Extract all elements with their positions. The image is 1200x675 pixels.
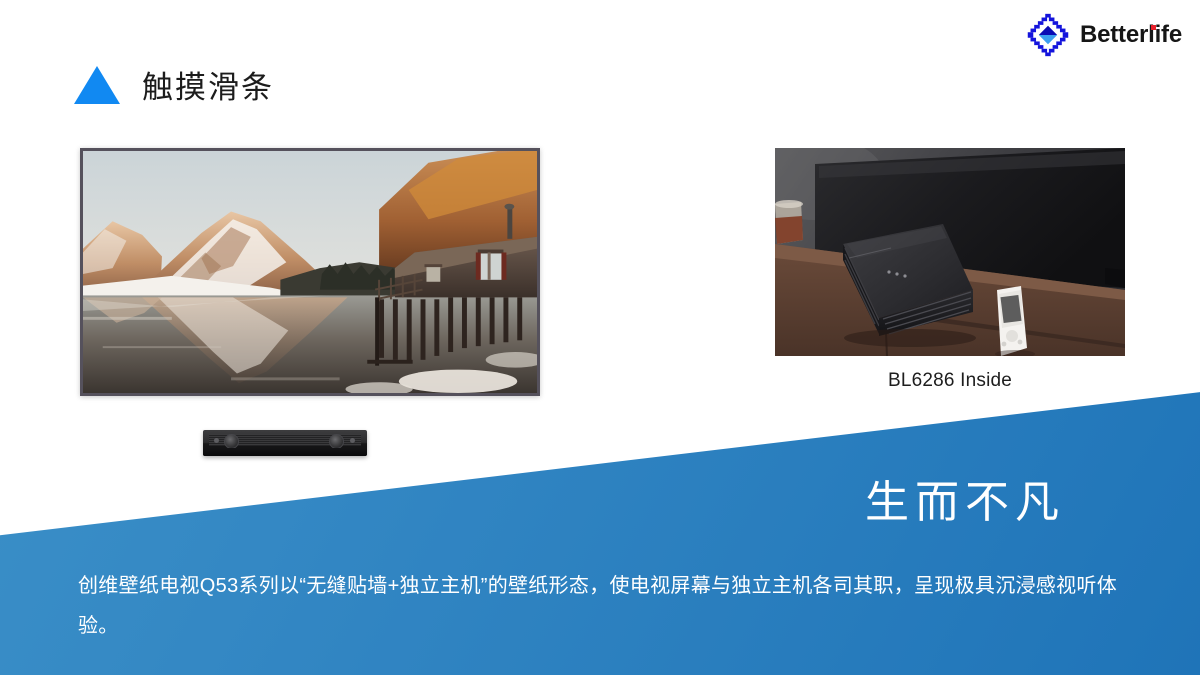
tv-screen-image	[83, 151, 537, 393]
diamond-logo-icon	[1025, 12, 1071, 58]
soundbar-driver-right	[329, 434, 344, 449]
soundbar-tweeter-right	[350, 438, 355, 443]
slide-canvas: Betterlife 触摸滑条	[0, 0, 1200, 675]
brand-logo: Betterlife	[1025, 12, 1182, 58]
tv-screen	[83, 151, 537, 393]
wallpaper-tv	[80, 148, 540, 396]
page-title: 触摸滑条	[142, 62, 274, 107]
brand-name-text: Betterlife	[1080, 21, 1182, 48]
body-paragraph: 创维壁纸电视Q53系列以“无缝贴墙+独立主机”的壁纸形态，使电视屏幕与独立主机各…	[78, 566, 1118, 646]
soundbar-base	[203, 448, 367, 456]
brand-wordmark: Betterlife	[1080, 23, 1182, 47]
set-top-box-photo	[775, 148, 1125, 356]
slide-title-row: 触摸滑条	[74, 62, 274, 107]
soundbar	[203, 430, 367, 456]
soundbar-driver-left	[224, 434, 239, 449]
set-top-box-image	[775, 148, 1125, 356]
photo-caption: BL6286 Inside	[775, 370, 1125, 392]
soundbar-tweeter-left	[214, 438, 219, 443]
brand-accent-dot	[1151, 25, 1156, 30]
slogan-text: 生而不凡	[865, 466, 1065, 530]
blue-triangle-icon	[74, 66, 120, 104]
